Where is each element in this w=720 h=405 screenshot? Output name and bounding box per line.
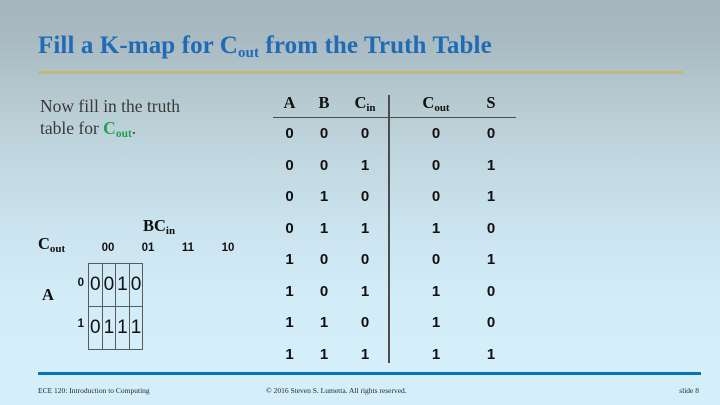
kmap-col-label-2: 11 [168,242,208,254]
truth-table-grid: A B Cin Cout S 0000000101010010111010001… [273,93,516,370]
table-cell-cout: 0 [406,181,466,213]
table-cell-cout: 0 [406,118,466,150]
table-cell-b: 1 [306,339,342,371]
kmap-column-variable-main: BC [143,216,166,235]
footer-divider-rule [38,372,701,375]
table-cell-cin: 0 [342,181,388,213]
table-cell-cin: 0 [342,118,388,150]
table-cell-a: 0 [273,213,306,245]
kmap-cell[interactable]: 0 [102,264,116,307]
kmap-row-label-0: 0 [68,263,84,304]
table-cell-cin: 1 [342,339,388,371]
prompt-text: Now fill in the truth table for Cout. [40,95,260,142]
footer-course-label: ECE 120: Introduction to Computing [38,386,150,395]
table-row: 01001 [273,181,516,213]
header-cell-cin: Cin [342,93,388,118]
prompt-highlight-variable: C [103,118,116,138]
table-cell-gap [388,213,406,245]
header-cin-sub: in [366,102,375,114]
kmap-row-variable-label: A [42,285,54,305]
table-cell-a: 1 [273,307,306,339]
table-cell-cout: 1 [406,276,466,308]
table-cell-cin: 1 [342,150,388,182]
table-cell-cout: 1 [406,307,466,339]
table-cell-s: 0 [466,118,516,150]
prompt-line1: Now fill in the truth [40,96,180,116]
title-divider-rule [38,71,683,74]
table-cell-cout: 0 [406,244,466,276]
kmap-column-variable-label: BCin [143,216,175,236]
table-cell-cin: 0 [342,307,388,339]
kmap-row-label-1: 1 [68,304,84,345]
kmap-cell[interactable]: 0 [129,264,143,307]
table-cell-s: 1 [466,181,516,213]
table-cell-b: 0 [306,276,342,308]
prompt-highlight-subscript: out [116,128,132,140]
truth-table-header: A B Cin Cout S [273,93,516,118]
page-title-tail: from the Truth Table [259,32,492,59]
kmap-output-label-sub: out [50,243,65,255]
header-cin-main: C [354,93,366,112]
kmap-column-variable-sub: in [166,225,175,237]
truth-table-body: 0000000101010010111010001101101101011111 [273,118,516,371]
table-cell-b: 0 [306,150,342,182]
table-cell-cout: 1 [406,213,466,245]
kmap-output-label-main: C [38,234,50,253]
kmap-row: 0010 [89,264,143,307]
table-cell-s: 0 [466,307,516,339]
footer-copyright: © 2016 Steven S. Lumetta. All rights res… [266,386,407,395]
header-s-main: S [486,93,495,112]
kmap-cell[interactable]: 1 [116,264,130,307]
table-row: 10110 [273,276,516,308]
table-cell-cin: 1 [342,213,388,245]
table-cell-s: 0 [466,276,516,308]
table-cell-a: 1 [273,276,306,308]
slide-canvas: Fill a K-map for Cout from the Truth Tab… [0,0,720,405]
kmap-cell[interactable]: 1 [116,307,130,350]
table-cell-cout: 1 [406,339,466,371]
table-cell-b: 0 [306,118,342,150]
table-cell-cin: 1 [342,276,388,308]
kmap-column-headers: 00 01 11 10 [88,242,248,254]
header-a-main: A [284,93,296,112]
table-row: 00101 [273,150,516,182]
prompt-line2-prefix: table for [40,118,103,138]
truth-table-header-row: A B Cin Cout S [273,93,516,118]
table-cell-a: 1 [273,339,306,371]
kmap-cell[interactable]: 1 [102,307,116,350]
table-cell-a: 0 [273,181,306,213]
kmap-col-label-0: 00 [88,242,128,254]
page-title: Fill a K-map for Cout from the Truth Tab… [38,32,492,60]
table-cell-s: 1 [466,339,516,371]
truth-table-input-output-divider [388,95,390,363]
table-cell-b: 1 [306,181,342,213]
header-cell-a: A [273,93,306,118]
kmap-grid-body: 00100111 [89,264,143,350]
table-cell-s: 0 [466,213,516,245]
header-cout-main: C [422,93,434,112]
table-row: 10001 [273,244,516,276]
table-cell-gap [388,150,406,182]
prompt-line2-suffix: . [132,118,136,138]
table-cell-a: 0 [273,150,306,182]
page-title-main: Fill a K-map for C [38,32,238,59]
table-cell-gap [388,181,406,213]
table-cell-gap [388,244,406,276]
kmap-col-label-3: 10 [208,242,248,254]
table-cell-gap [388,339,406,371]
header-cell-b: B [306,93,342,118]
header-cell-s: S [466,93,516,118]
header-cell-cout: Cout [406,93,466,118]
kmap-cell[interactable]: 0 [89,307,103,350]
table-cell-b: 1 [306,213,342,245]
table-cell-cout: 0 [406,150,466,182]
footer: ECE 120: Introduction to Computing © 201… [38,386,701,398]
table-row: 11111 [273,339,516,371]
header-cell-gap [388,93,406,118]
table-row: 00000 [273,118,516,150]
table-cell-gap [388,307,406,339]
table-cell-s: 1 [466,244,516,276]
table-cell-a: 1 [273,244,306,276]
header-b-main: B [318,93,329,112]
kmap-output-label: Cout [38,234,65,254]
kmap-cell[interactable]: 1 [129,307,143,350]
table-row: 01110 [273,213,516,245]
truth-table: A B Cin Cout S 0000000101010010111010001… [273,93,516,370]
table-cell-gap [388,276,406,308]
header-cout-sub: out [434,102,449,114]
footer-slide-number: slide 8 [679,386,699,395]
table-cell-b: 0 [306,244,342,276]
page-title-subscript: out [238,45,259,61]
table-cell-gap [388,118,406,150]
table-row: 11010 [273,307,516,339]
table-cell-b: 1 [306,307,342,339]
kmap-row: 0111 [89,307,143,350]
kmap-grid: 00100111 [88,263,143,350]
table-cell-s: 1 [466,150,516,182]
kmap-cell[interactable]: 0 [89,264,103,307]
kmap-col-label-1: 01 [128,242,168,254]
table-cell-a: 0 [273,118,306,150]
kmap-row-headers: 0 1 [68,263,84,345]
table-cell-cin: 0 [342,244,388,276]
